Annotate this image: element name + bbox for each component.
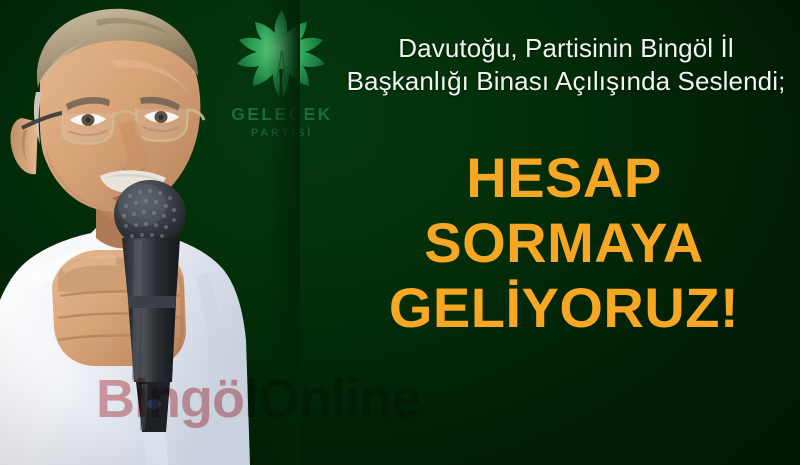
article-kicker: Davutoğu, Partisinin Bingöl İl Başkanlığ…	[336, 32, 796, 99]
headline-line-2: SORMAYA	[330, 211, 798, 276]
headline-line-3: GELİYORUZ!	[330, 276, 798, 341]
article-headline: HESAP SORMAYA GELİYORUZ!	[330, 146, 798, 341]
news-banner: GELECEK PARTİSİ	[0, 0, 800, 465]
headline-line-1: HESAP	[330, 146, 798, 211]
